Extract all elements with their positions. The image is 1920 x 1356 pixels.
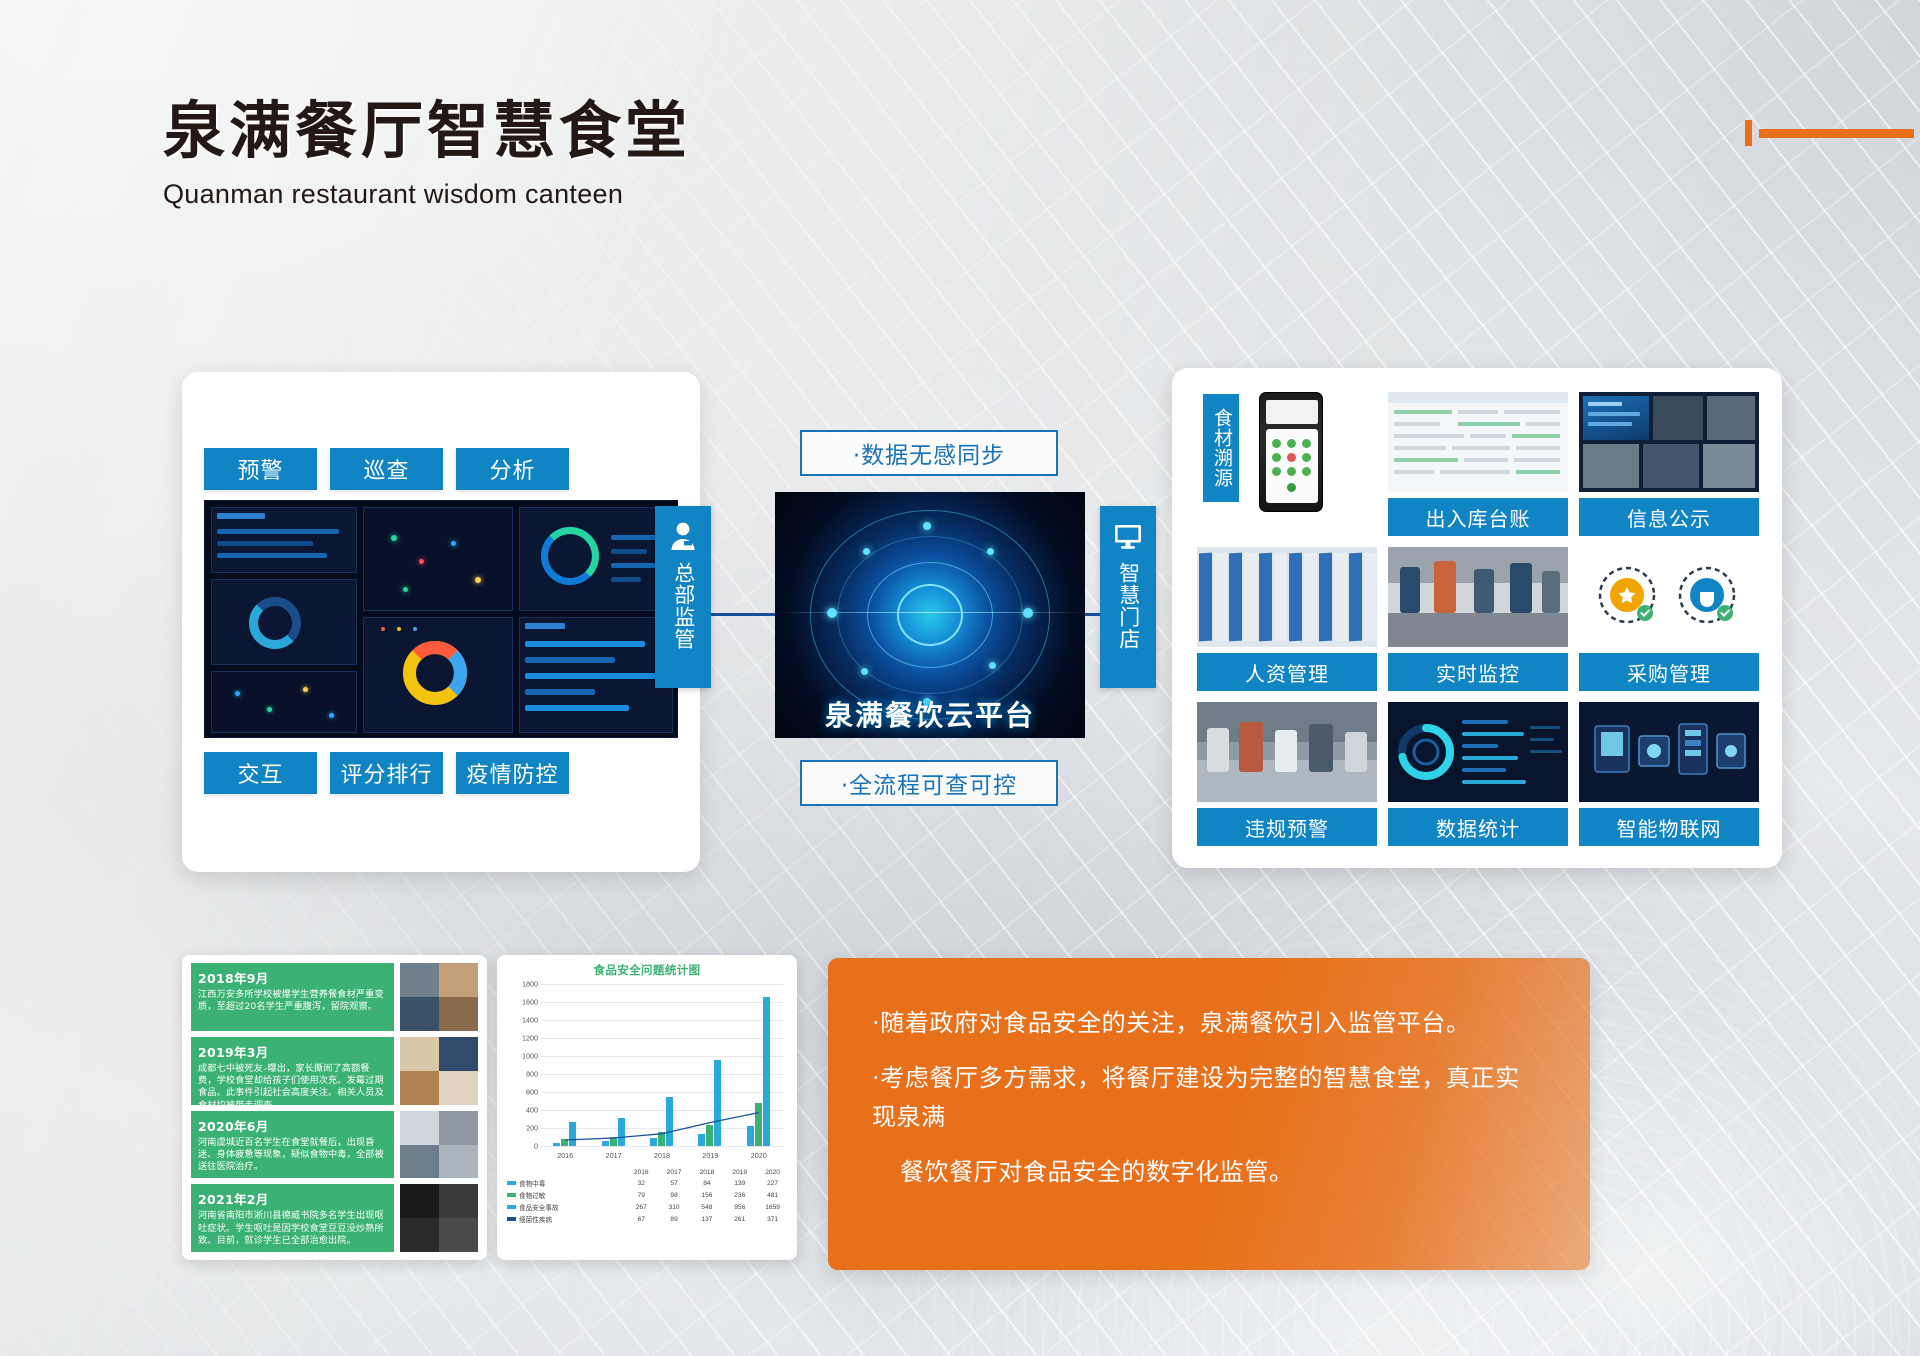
chart-gridline [541,1146,783,1147]
legend-value: 32 [625,1177,658,1189]
cell-realtime-monitoring[interactable]: 实时监控 [1388,547,1568,691]
left-card-bottom-button-row: 交互 评分排行 疫情防控 [204,752,569,794]
conclusion-line-2: ·考虑餐厅多方需求，将餐厅建设为完整的智慧食堂，真正实现泉满 [872,1059,1536,1137]
legend-value: 84 [691,1177,724,1189]
chart-ytick-label: 1600 [522,998,538,1007]
legend-col-header: 2020 [756,1168,789,1177]
page-title: 泉满餐厅智慧食堂 [163,96,691,165]
chart-xtick-label: 2019 [702,1151,718,1160]
tab-hq-supervision[interactable]: 总部监管 [655,506,711,688]
cell-info-disclosure-label: 信息公示 [1579,498,1759,536]
legend-value: 956 [723,1201,756,1213]
cell-inventory-ledger-label: 出入库台账 [1388,498,1568,536]
cell-violation-alert[interactable]: 违规预警 [1197,702,1377,846]
table-row: 20162017201820192020 [505,1168,789,1177]
conclusion-line-1: ·随着政府对食品安全的关注，泉满餐饮引入监管平台。 [872,1004,1536,1043]
news-timeline-card: 2018年9月 江西万安多所学校被爆学生营养餐食材严重变质，至超过20名学生严重… [182,955,487,1260]
legend-swatch [507,1193,516,1197]
list-item[interactable]: 2019年3月 成都七中被死友ހ曝出，家长撕闹了高额餐费，学校食堂却给孩子们使用… [191,1037,478,1105]
page-subtitle: Quanman restaurant wisdom canteen [163,179,691,210]
conclusion-panel: ·随着政府对食品安全的关注，泉满餐饮引入监管平台。 ·考虑餐厅多方需求，将餐厅建… [828,958,1590,1270]
list-item[interactable]: 2021年2月 河南省南阳市淅川县德威书院多名学生出现呕吐症状。学生呕吐是因学校… [191,1184,478,1252]
conclusion-line-3: 餐饮餐厅对食品安全的数字化监管。 [872,1153,1536,1192]
tab-smart-store[interactable]: 智慧门店 [1100,506,1156,688]
news-date: 2020年6月 [198,1116,387,1135]
legend-series-name: 食品安全事故 [505,1201,625,1213]
legend-value: 227 [756,1177,789,1189]
cell-data-statistics[interactable]: 数据统计 [1388,702,1568,846]
food-safety-chart-card: 食品安全问题统计图 020040060080010001200140016001… [497,955,797,1260]
news-thumbnail [400,963,478,1031]
legend-value: 267 [625,1201,658,1213]
cell-info-disclosure[interactable]: 信息公示 [1579,392,1759,536]
chart-legend-table: 20162017201820192020食物中毒325784139227食物过敏… [505,1168,789,1225]
news-text: 2020年6月 河南虞城近百名学生在食堂就餐后，出现昏迷、身体疲惫等现象，疑似食… [191,1111,394,1179]
list-item[interactable]: 2018年9月 江西万安多所学校被爆学生营养餐食材严重变质，至超过20名学生严重… [191,963,478,1031]
legend-value: 79 [625,1189,658,1201]
legend-value: 371 [756,1213,789,1225]
header-accent-bar [1745,120,1914,146]
connector-left [711,613,781,616]
legend-col-header: 2019 [723,1168,756,1177]
legend-series-name: 食物中毒 [505,1177,625,1189]
pill-full-process: ·全流程可查可控 [800,760,1058,806]
btn-analysis[interactable]: 分析 [456,448,569,490]
cell-smart-iot-label: 智能物联网 [1579,808,1759,846]
table-row: 食物中毒325784139227 [505,1177,789,1189]
legend-value: 57 [658,1177,691,1189]
legend-series-name: 细菌性疾病 [505,1213,625,1225]
pill-data-sync: ·数据无感同步 [800,430,1058,476]
btn-inspection[interactable]: 巡查 [330,448,443,490]
accent-tick [1745,120,1752,146]
legend-value: 139 [723,1177,756,1189]
display-board-icon [1579,392,1759,492]
chart-ytick-label: 1400 [522,1016,538,1025]
cell-hr-management-label: 人资管理 [1197,653,1377,691]
monitoring-dashboard-screenshot [204,500,678,738]
chart-ytick-label: 0 [534,1142,538,1151]
accent-bar-line [1759,129,1914,138]
chart-xtick-label: 2016 [557,1151,573,1160]
cell-food-traceability[interactable]: 食材溯源 [1197,392,1377,536]
cell-food-traceability-label: 食材溯源 [1203,394,1239,502]
kitchen-icon [1197,702,1377,802]
legend-series-name: 食物过敏 [505,1189,625,1201]
legend-value: 310 [658,1201,691,1213]
tab-store-label: 智慧门店 [1116,562,1140,650]
chart-ytick-label: 1800 [522,980,538,989]
legend-value: 137 [691,1213,724,1225]
cell-violation-alert-label: 违规预警 [1197,808,1377,846]
news-text: 2021年2月 河南省南阳市淅川县德威书院多名学生出现呕吐症状。学生呕吐是因学校… [191,1184,394,1252]
news-body: 成都七中被死友ހ曝出，家长撕闹了高额餐费，学校食堂却给孩子们使用次充。发霉过期食… [198,1063,387,1105]
chart-ytick-label: 1000 [522,1052,538,1061]
legend-value: 98 [658,1189,691,1201]
legend-swatch [507,1205,516,1209]
btn-score-ranking[interactable]: 评分排行 [330,752,443,794]
news-date: 2018年9月 [198,968,387,987]
cell-hr-management[interactable]: 人资管理 [1197,547,1377,691]
table-row: 食品安全事故2673105489561659 [505,1201,789,1213]
tab-hq-label: 总部监管 [671,562,695,650]
news-body: 江西万安多所学校被爆学生营养餐食材严重变质，至超过20名学生严重腹泻，留院观察。 [198,989,387,1014]
legend-col-header: 2018 [691,1168,724,1177]
legend-value: 67 [625,1213,658,1225]
news-body: 河南省南阳市淅川县德威书院多名学生出现呕吐症状。学生呕吐是因学校食堂豆豆没炒熟所… [198,1210,387,1247]
legend-value: 236 [723,1189,756,1201]
page-header: 泉满餐厅智慧食堂 Quanman restaurant wisdom cante… [163,96,691,210]
news-thumbnail [400,1037,478,1105]
chart-xtick-label: 2017 [606,1151,622,1160]
legend-swatch [507,1181,516,1185]
left-card-top-button-row: 预警 巡查 分析 [204,448,569,490]
spreadsheet-icon [1388,392,1568,492]
cell-realtime-monitoring-label: 实时监控 [1388,653,1568,691]
chart-ytick-label: 800 [526,1070,538,1079]
chart-title: 食品安全问题统计图 [505,962,789,978]
chart-plot-inner: 0200400600800100012001400160018002016201… [541,984,783,1146]
module-grid: 食材溯源 [1197,392,1759,846]
legend-value: 156 [691,1189,724,1201]
chart-ytick-label: 600 [526,1088,538,1097]
legend-col-header: 2016 [625,1168,658,1177]
news-text: 2019年3月 成都七中被死友ހ曝出，家长撕闹了高额餐费，学校食堂却给孩子们使用… [191,1037,394,1105]
files-icon [1197,547,1377,647]
legend-col-header: 2017 [658,1168,691,1177]
legend-value: 261 [723,1213,756,1225]
cell-procurement-label: 采购管理 [1579,653,1759,691]
cell-procurement[interactable]: 采购管理 [1579,547,1759,691]
btn-epidemic-control[interactable]: 疫情防控 [456,752,569,794]
table-row: 细菌性疾病6789137261371 [505,1213,789,1225]
list-item[interactable]: 2020年6月 河南虞城近百名学生在食堂就餐后，出现昏迷、身体疲惫等现象，疑似食… [191,1111,478,1179]
gauge-icon [1388,702,1568,802]
btn-interaction[interactable]: 交互 [204,752,317,794]
news-date: 2021年2月 [198,1189,387,1208]
chart-line-layer [541,984,783,1146]
btn-early-warning[interactable]: 预警 [204,448,317,490]
chart-xtick-label: 2018 [654,1151,670,1160]
cell-inventory-ledger[interactable]: 出入库台账 [1388,392,1568,536]
legend-value: 1659 [756,1201,789,1213]
news-thumbnail [400,1184,478,1252]
user-icon [667,520,699,552]
news-body: 河南虞城近百名学生在食堂就餐后，出现昏迷、身体疲惫等现象，疑似食物中毒，全部被送… [198,1137,387,1174]
news-thumbnail [400,1111,478,1179]
cloud-platform-label: 泉满餐饮云平台 [775,690,1085,738]
legend-swatch [507,1217,516,1221]
legend-value: 481 [756,1189,789,1201]
pos-device-icon [1259,392,1323,512]
iot-icon [1579,702,1759,802]
news-date: 2019年3月 [198,1042,387,1061]
legend-value: 89 [658,1213,691,1225]
chart-plot-area: 0200400600800100012001400160018002016201… [505,980,789,1162]
legend-value: 548 [691,1201,724,1213]
cell-data-statistics-label: 数据统计 [1388,808,1568,846]
news-text: 2018年9月 江西万安多所学校被爆学生营养餐食材严重变质，至超过20名学生严重… [191,963,394,1031]
cctv-icon [1388,547,1568,647]
badge-icon [1579,547,1759,647]
monitor-icon [1112,520,1144,552]
chart-ytick-label: 400 [526,1106,538,1115]
chart-ytick-label: 200 [526,1124,538,1133]
table-row: 食物过敏7998156236481 [505,1189,789,1201]
chart-ytick-label: 1200 [522,1034,538,1043]
cell-smart-iot[interactable]: 智能物联网 [1579,702,1759,846]
chart-xtick-label: 2020 [751,1151,767,1160]
